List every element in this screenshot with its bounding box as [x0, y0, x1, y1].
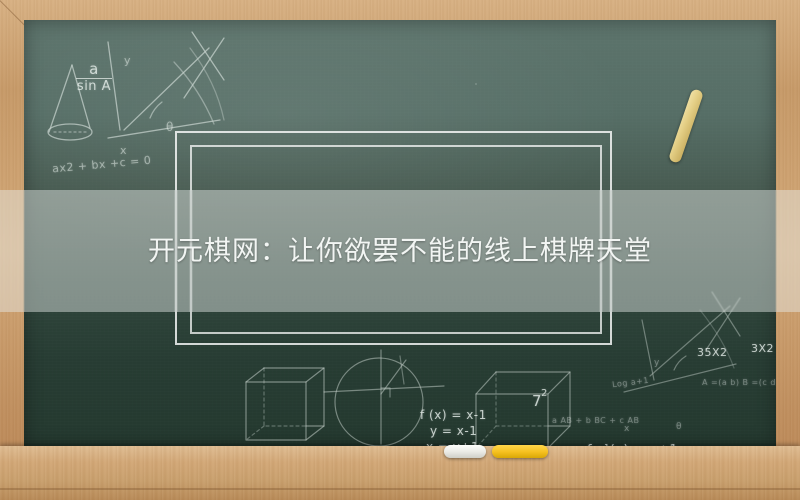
label-axis-x-2: x [624, 424, 630, 434]
label-angle-theta-1: θ [166, 120, 174, 134]
chalk-tray-lip [0, 488, 800, 490]
cube-wireframe-2-shape [476, 372, 570, 446]
circle-radius-shape [324, 350, 444, 446]
formula-a-over-sina-1-denominator: sin A [72, 79, 116, 94]
chalk-tray-ledge [0, 446, 800, 500]
page-title: 开元棋网：让你欲罢不能的线上棋牌天堂 [0, 232, 800, 272]
tray-chalk-yellow [492, 445, 548, 458]
tray-chalk-white [444, 445, 486, 458]
label-axis-x-1: x [120, 144, 127, 157]
formula-prod-35x2: 35X2 [697, 346, 728, 359]
formula-fx-line-2: y = x-1 [430, 424, 477, 438]
formula-fx-line-1: f (x) = x-1 [420, 408, 487, 422]
screenshot-root: a sin A ax2 + bx +c = 0 y x θ f (x) = x-… [0, 0, 800, 500]
label-axis-y-2: y [654, 358, 660, 368]
label-angle-theta-2: θ [676, 422, 682, 432]
formula-prod-3x2: 3X2 [751, 342, 774, 355]
formula-a-over-sina-1-numerator: a [76, 60, 112, 78]
formula-matrix-row: A =(a b) B =(c d) ⁻¹=(e f) [702, 378, 776, 387]
cube-wireframe-1-shape [246, 368, 324, 440]
formula-seven-squared-exp: 2 [541, 388, 548, 399]
label-axis-y-1: y [124, 54, 131, 67]
